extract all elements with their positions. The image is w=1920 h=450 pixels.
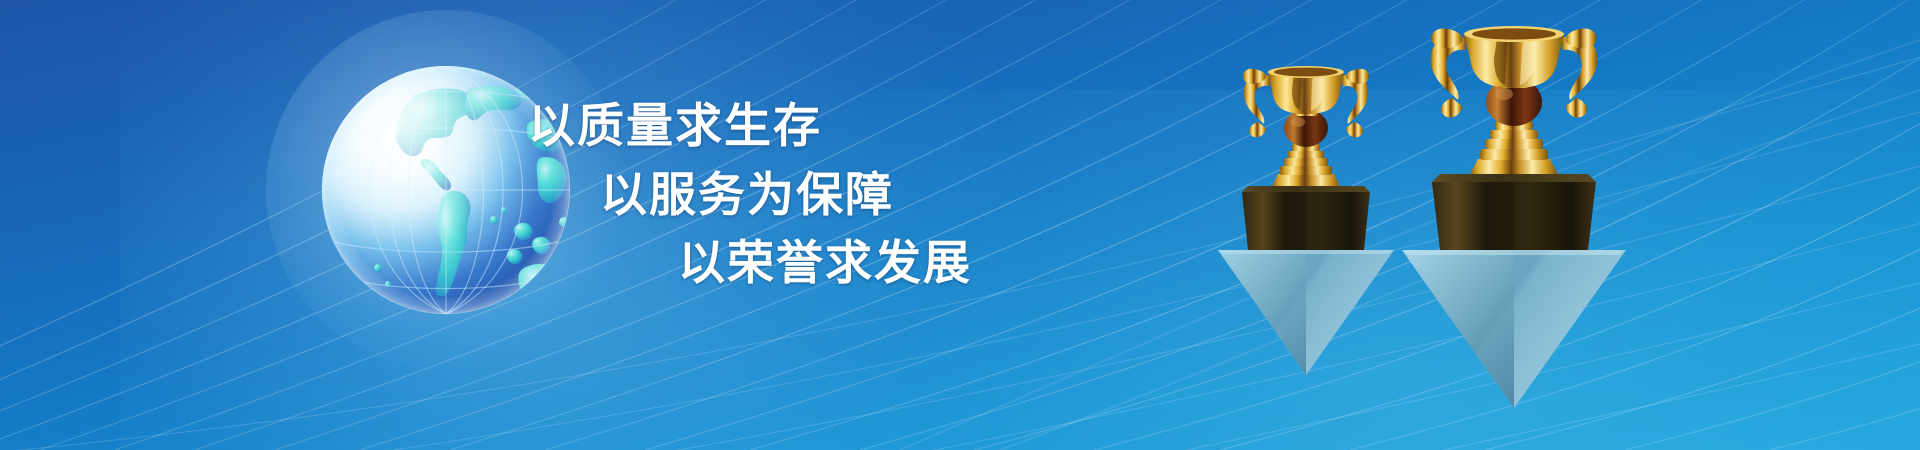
headline-line-2: 以服务为保障: [600, 161, 1188, 230]
trophy-left-graphic: [1218, 40, 1394, 380]
trophy-base-left: [1242, 186, 1370, 250]
trophy-left: [1243, 66, 1369, 186]
trophy-unit-left: [1218, 40, 1394, 380]
trophy-base-right: [1432, 174, 1596, 250]
pedestal-cone-left: [1218, 250, 1394, 375]
pedestal-cone-right: [1402, 250, 1626, 408]
headline-line-1: 以质量求生存: [528, 92, 1188, 161]
headline-block: 以质量求生存 以服务为保障 以荣誉求发展: [528, 92, 1188, 298]
trophy-right-graphic: [1402, 8, 1626, 408]
promo-banner: 以质量求生存 以服务为保障 以荣誉求发展: [0, 0, 1920, 450]
trophy-unit-right: [1402, 8, 1626, 408]
headline-line-3: 以荣誉求发展: [678, 229, 1188, 298]
trophy-right: [1431, 26, 1598, 174]
